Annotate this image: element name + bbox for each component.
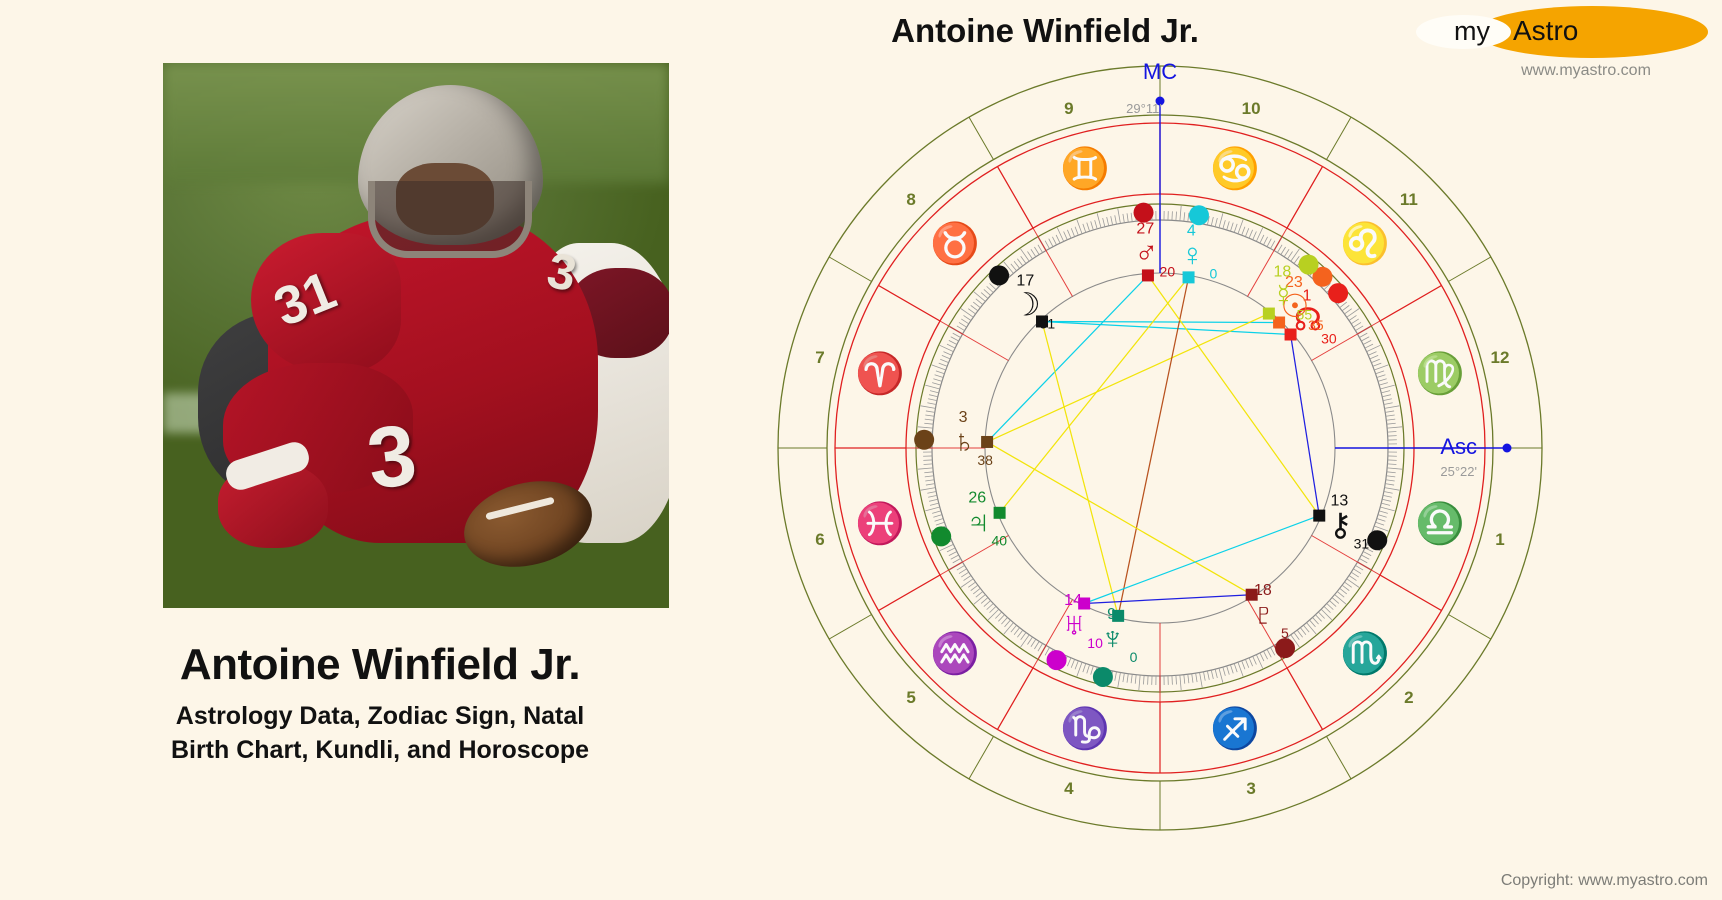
planet-inner-marker <box>1313 510 1325 522</box>
planet-degree: 27 <box>1136 220 1154 237</box>
house-number-8: 8 <box>906 190 915 209</box>
planet-degree: 14 <box>1064 592 1082 609</box>
aspect-line <box>1118 277 1188 615</box>
planet-glyph: ♂ <box>1134 234 1158 270</box>
sign-glyph-aries[interactable]: ♈ <box>855 350 905 396</box>
aspect-line <box>1084 595 1252 604</box>
planet-degree: 26 <box>968 489 986 506</box>
planet-pluto[interactable]: ♇185 <box>1246 582 1295 658</box>
house-number-4: 4 <box>1064 779 1074 798</box>
house-number-11: 11 <box>1400 190 1418 209</box>
planet-neptune[interactable]: ♆90 <box>1093 606 1138 687</box>
subtitle-line-2: Birth Chart, Kundli, and Horoscope <box>171 736 589 764</box>
sign-glyph-cancer[interactable]: ♋ <box>1210 145 1260 191</box>
sign-glyph-sagittarius[interactable]: ♐ <box>1210 705 1260 751</box>
planet-ring-dot <box>1367 530 1387 550</box>
planet-minute: 31 <box>1040 316 1056 332</box>
planet-ring-dot <box>914 430 934 450</box>
planet-venus[interactable]: ♀40 <box>1180 205 1217 283</box>
planet-glyph: ☿ <box>1271 278 1295 314</box>
aspect-line <box>1042 321 1118 615</box>
house-number-12: 12 <box>1491 348 1510 367</box>
planet-moon[interactable]: ☽1731 <box>989 265 1055 331</box>
sign-glyph-libra[interactable]: ♎ <box>1415 500 1465 546</box>
planet-minute: 0 <box>1209 266 1217 282</box>
planet-inner-marker <box>1142 269 1154 281</box>
subject-name-heading: Antoine Winfield Jr. <box>0 640 760 690</box>
logo-text-astro: Astro <box>1513 15 1578 47</box>
axis-label-asc: Asc <box>1440 434 1477 459</box>
planet-minute: 20 <box>1160 263 1176 279</box>
planet-minute: 31 <box>1354 536 1370 552</box>
subject-photo: 3 31 3 <box>163 63 669 608</box>
planet-degree: 3 <box>959 409 968 426</box>
sign-glyph-scorpio[interactable]: ♏ <box>1340 630 1390 676</box>
sign-glyph-virgo[interactable]: ♍ <box>1415 350 1465 396</box>
planet-minute: 40 <box>991 532 1007 548</box>
aspect-line <box>987 442 1252 595</box>
planet-minute: 55 <box>1297 307 1313 323</box>
subtitle-line-1: Astrology Data, Zodiac Sign, Natal <box>176 702 584 730</box>
planet-degree: 18 <box>1273 264 1291 281</box>
aspect-line <box>1042 321 1291 334</box>
planet-inner-marker <box>981 436 993 448</box>
degree-ring-inner-circle <box>932 220 1388 676</box>
axis-degree-asc: 25°22' <box>1440 464 1477 479</box>
planet-glyph: ♀ <box>1180 237 1204 273</box>
house-number-9: 9 <box>1064 99 1073 118</box>
planet-glyph: ☽ <box>1012 287 1041 323</box>
subject-subtitle: Astrology Data, Zodiac Sign, Natal Birth… <box>0 700 760 768</box>
planet-inner-marker <box>1183 271 1195 283</box>
planet-ring-dot <box>931 526 951 546</box>
player-facemask-shape <box>368 181 532 258</box>
axis-degree-mc: 29°11' <box>1126 101 1162 116</box>
planet-minute: 38 <box>977 452 993 468</box>
planet-glyph: ♆ <box>1101 620 1125 656</box>
planet-degree: 4 <box>1187 223 1196 240</box>
aspect-line <box>987 314 1269 442</box>
page-root: 3 31 3 Antoine Winfield Jr. Astrology Da… <box>0 0 1722 900</box>
planet-ring-dot <box>1047 650 1067 670</box>
house-number-3: 3 <box>1246 779 1255 798</box>
natal-chart-wheel[interactable]: ♈♉♊♋♌♍♎♏♐♑♒♓ 123456789101112 ☊130☉2335☿1… <box>760 48 1560 848</box>
logo-text-my: my <box>1454 16 1490 47</box>
aspect-line <box>1291 335 1320 516</box>
planet-glyph: ♄ <box>952 423 976 459</box>
planet-mars[interactable]: ♂2720 <box>1134 203 1176 282</box>
sign-glyph-taurus[interactable]: ♉ <box>930 220 980 266</box>
sign-glyph-gemini[interactable]: ♊ <box>1060 145 1110 191</box>
house-number-5: 5 <box>906 688 915 707</box>
planet-ring-dot <box>1093 667 1113 687</box>
planet-ring-dot <box>1328 283 1348 303</box>
planet-glyph: ⚷ <box>1329 507 1352 543</box>
planet-saturn[interactable]: ♄338 <box>914 409 993 468</box>
planet-ring-dot <box>1299 255 1319 275</box>
planet-glyph: ♇ <box>1252 596 1276 632</box>
aspect-line <box>1084 516 1319 604</box>
planet-degree: 18 <box>1254 582 1272 599</box>
planet-glyph: ♅ <box>1062 606 1086 642</box>
house-number-10: 10 <box>1242 99 1261 118</box>
planet-degree: 9 <box>1107 606 1116 623</box>
house-number-2: 2 <box>1404 688 1413 707</box>
chart-title: Antoine Winfield Jr. <box>765 12 1325 50</box>
planet-minute: 5 <box>1281 625 1289 641</box>
house-number-7: 7 <box>815 348 824 367</box>
planet-degree: 17 <box>1016 273 1034 290</box>
house-number-6: 6 <box>815 530 824 549</box>
house-number-1: 1 <box>1495 530 1504 549</box>
left-panel: 3 31 3 Antoine Winfield Jr. Astrology Da… <box>0 0 760 900</box>
aspect-line <box>1042 321 1279 322</box>
sign-glyph-aquarius[interactable]: ♒ <box>930 630 980 676</box>
axis-point <box>1503 444 1512 453</box>
planet-inner-marker <box>994 507 1006 519</box>
axis-label-mc: MC <box>1143 59 1177 84</box>
planet-degree: 13 <box>1331 493 1349 510</box>
planet-minute: 0 <box>1130 649 1138 665</box>
planet-uranus[interactable]: ♅1410 <box>1047 592 1104 670</box>
sign-glyph-leo[interactable]: ♌ <box>1340 220 1390 266</box>
planet-glyph: ♃ <box>966 503 990 539</box>
sign-glyph-pisces[interactable]: ♓ <box>855 500 905 546</box>
sign-glyph-capricorn[interactable]: ♑ <box>1060 705 1110 751</box>
planet-ring-dot <box>989 265 1009 285</box>
copyright-text: Copyright: www.myastro.com <box>1501 872 1708 890</box>
